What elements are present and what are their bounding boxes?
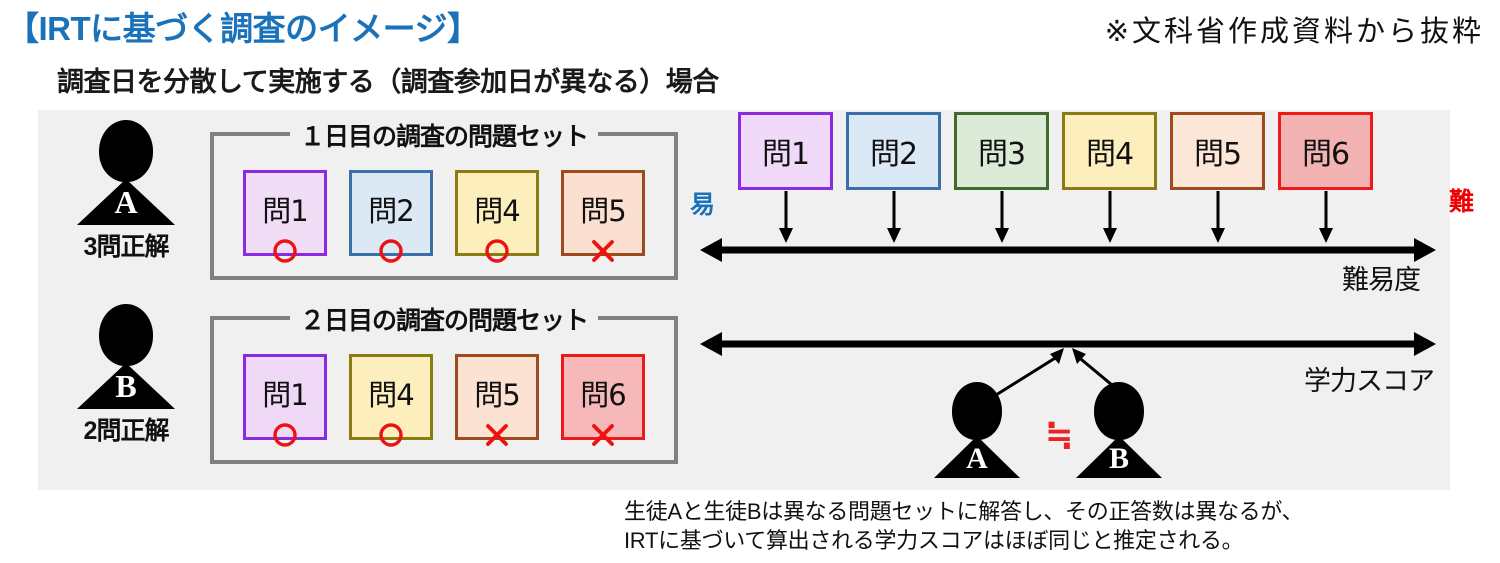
problem-label: 問4 — [368, 372, 413, 414]
correct-mark-icon — [270, 236, 300, 266]
correct-mark-icon — [482, 236, 512, 266]
person-head — [99, 120, 153, 182]
problem-label: 問1 — [262, 188, 307, 230]
problem-set-day2: ２日目の調査の問題セット 問1 問4 問5 問6 — [210, 316, 678, 464]
problem-label: 問4 — [474, 188, 519, 230]
correct-mark-icon — [376, 420, 406, 450]
problem-box[interactable]: 問5 — [561, 170, 645, 256]
problem-box[interactable]: 問1 — [243, 354, 327, 440]
problem-set-day2-title: ２日目の調査の問題セット — [290, 301, 598, 337]
wrong-mark-icon — [588, 420, 618, 450]
difficulty-axis-label: 難易度 — [1342, 258, 1420, 297]
problem-box[interactable]: 問1 — [243, 170, 327, 256]
source-note: ※文科省作成資料から抜粋 — [1105, 8, 1484, 50]
person-icon-a-score: A — [934, 382, 1020, 478]
wrong-mark-icon — [588, 236, 618, 266]
correct-mark-icon — [270, 420, 300, 450]
person-letter: A — [76, 184, 176, 221]
problem-box[interactable]: 問2 — [349, 170, 433, 256]
explanation-caption: 生徒Aと生徒Bは異なる問題セットに解答し、その正答数は異なるが、 IRTに基づい… — [624, 497, 1303, 556]
person-head — [952, 382, 1002, 440]
problem-label: 問5 — [580, 188, 625, 230]
student-a-block: A 3問正解 — [56, 120, 196, 263]
problem-box[interactable]: 問5 — [455, 354, 539, 440]
problem-set-day2-items: 問1 問4 問5 問6 — [214, 354, 674, 440]
ability-axis-line — [700, 332, 1436, 356]
problem-label: 問5 — [474, 372, 519, 414]
problem-set-day1: １日目の調査の問題セット 問1 問2 問4 問5 — [210, 132, 678, 280]
approx-equal-symbol: ≒ — [1045, 418, 1074, 452]
problem-box[interactable]: 問6 — [561, 354, 645, 440]
person-icon-b: B — [76, 304, 176, 409]
wrong-mark-icon — [482, 420, 512, 450]
person-letter: B — [76, 368, 176, 405]
person-icon-b-score: B — [1076, 382, 1162, 478]
person-head — [99, 304, 153, 366]
page-title: 【IRTに基づく調査のイメージ】 — [6, 2, 480, 50]
ability-scale: A B ≒ 学力スコア — [698, 322, 1438, 490]
problem-box[interactable]: 問4 — [349, 354, 433, 440]
correct-mark-icon — [376, 236, 406, 266]
person-icon-a: A — [76, 120, 176, 225]
page-subtitle: 調査日を分散して実施する（調査参加日が異なる）場合 — [57, 60, 719, 99]
student-a-score: 3問正解 — [56, 227, 196, 263]
problem-set-day1-title: １日目の調査の問題セット — [290, 117, 598, 153]
person-letter: B — [1076, 442, 1162, 476]
problem-label: 問2 — [368, 188, 413, 230]
problem-label: 問1 — [262, 372, 307, 414]
problem-set-day1-items: 問1 問2 問4 問5 — [214, 170, 674, 256]
ability-axis-label: 学力スコア — [1304, 359, 1434, 398]
hard-label: 難 — [1449, 182, 1474, 218]
problem-label: 問6 — [580, 372, 625, 414]
ability-axis-svg — [698, 322, 1438, 490]
slide-root: 【IRTに基づく調査のイメージ】 ※文科省作成資料から抜粋 調査日を分散して実施… — [0, 0, 1500, 563]
difficulty-drop-arrows — [786, 191, 1326, 235]
difficulty-scale: 問1 問2 問3 問4 問5 問6 易 難 — [698, 110, 1438, 295]
problem-box[interactable]: 問4 — [455, 170, 539, 256]
student-b-score: 2問正解 — [56, 411, 196, 447]
person-head — [1094, 382, 1144, 440]
student-b-block: B 2問正解 — [56, 304, 196, 447]
ability-pointer-arrowheads — [1050, 348, 1086, 364]
difficulty-axis-svg — [698, 110, 1438, 295]
difficulty-drop-arrowheads — [779, 228, 1333, 243]
diagram-panel: A 3問正解 B 2問正解 １日目の調査の問題セット 問1 問2 — [38, 110, 1450, 490]
person-letter: A — [934, 442, 1020, 476]
